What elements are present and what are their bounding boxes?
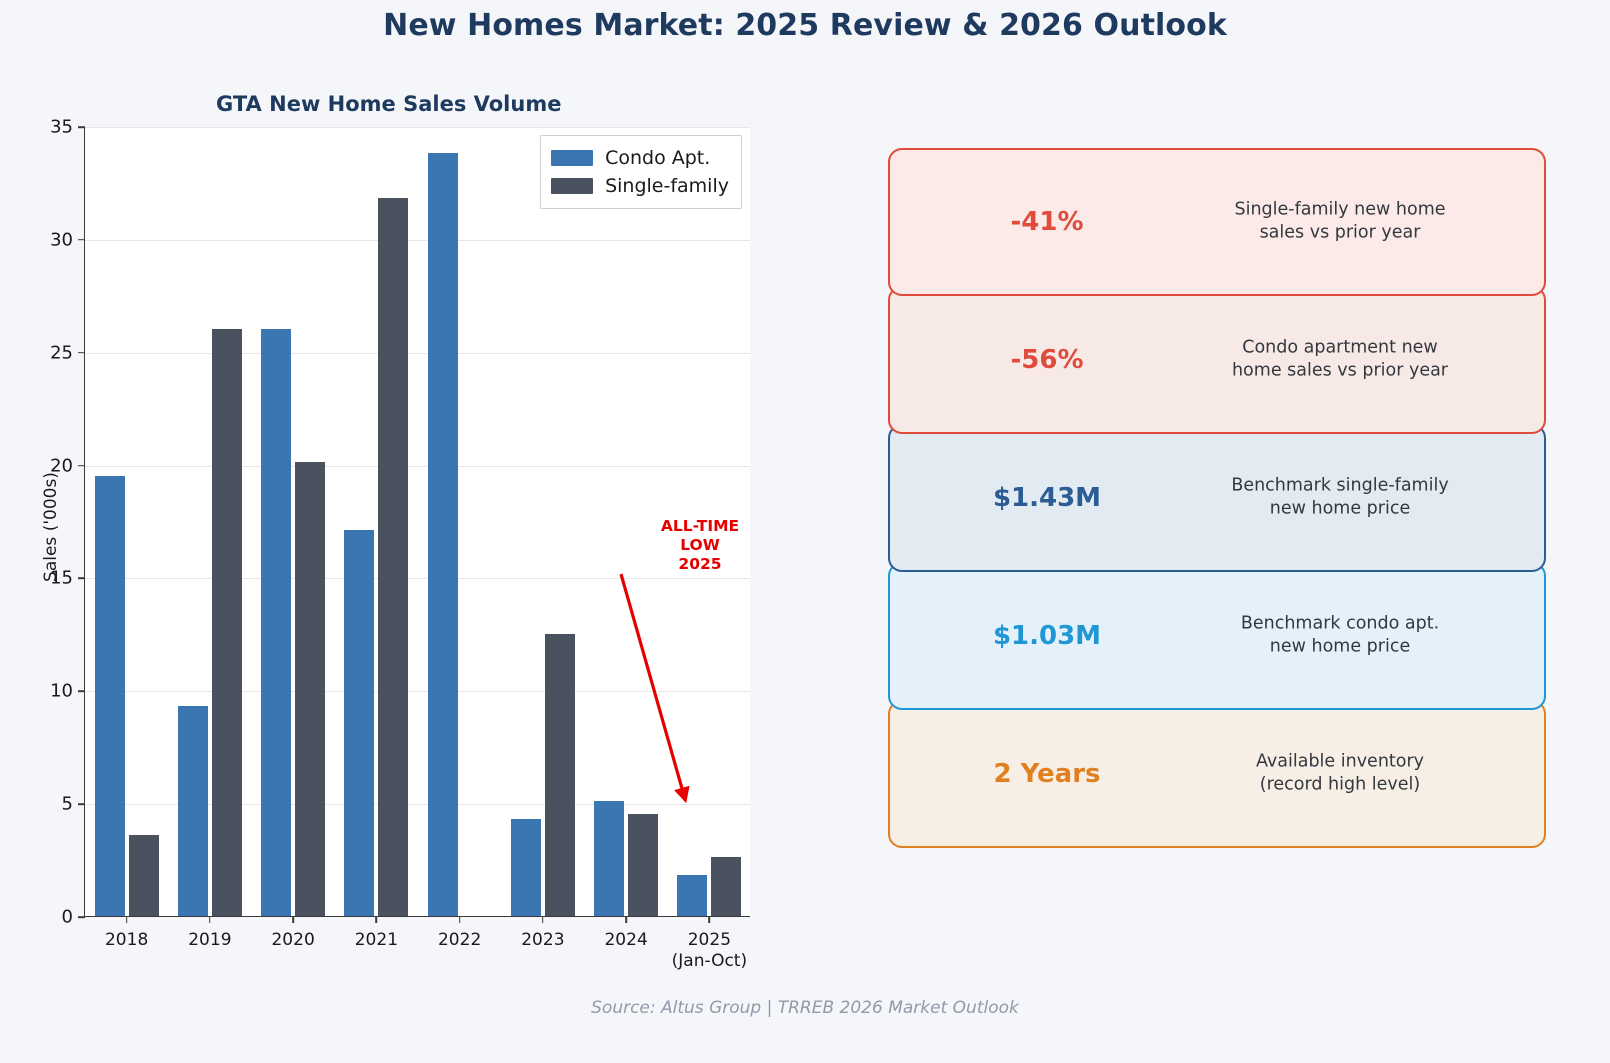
chart-bar [511,819,541,916]
x-tick-mark [209,916,211,923]
key-fact-value: 2 Years [942,759,1152,789]
key-fact-description: Available inventory (record high level) [1162,751,1518,798]
chart-bar [594,801,624,916]
gridline [85,353,750,354]
y-tick-label: 25 [50,342,73,363]
x-tick-label: 2024 [604,930,647,951]
y-tick-mark [78,578,85,580]
legend-label-single-family: Single-family [605,175,729,197]
y-tick-mark [78,352,85,354]
chart-bar [677,875,707,916]
chart-bar [628,814,658,916]
chart-bar [95,476,125,916]
chart-title: GTA New Home Sales Volume [216,92,561,116]
x-tick-mark [292,916,294,923]
key-fact-description: Single-family new home sales vs prior ye… [1162,199,1518,246]
key-fact-description: Benchmark condo apt. new home price [1162,613,1518,660]
y-tick-label: 30 [50,229,73,250]
source-note: Source: Altus Group | TRREB 2026 Market … [0,998,1610,1018]
annotation-line-2: LOW [620,536,780,555]
key-fact-card[interactable]: $1.43MBenchmark single-family new home p… [888,424,1546,572]
key-fact-card[interactable]: -41%Single-family new home sales vs prio… [888,148,1546,296]
chart-bar [344,530,374,916]
gridline [85,127,750,128]
key-fact-card[interactable]: $1.03MBenchmark condo apt. new home pric… [888,562,1546,710]
key-fact-value: $1.03M [942,621,1152,651]
chart-legend[interactable]: Condo Apt. Single-family [540,135,742,209]
y-tick-mark [78,916,85,918]
chart-bar [428,153,458,916]
x-tick-label-year: 2022 [438,930,481,950]
x-tick-label-year: 2021 [355,930,398,950]
y-axis-title: Sales ('000s) [41,472,61,582]
key-fact-value: $1.43M [942,483,1152,513]
gridline [85,691,750,692]
x-tick-label-year: 2020 [271,930,314,950]
x-tick-label: 2018 [105,930,148,951]
y-tick-mark [78,690,85,692]
legend-item-single-family[interactable]: Single-family [551,172,729,200]
x-tick-mark [625,916,627,923]
legend-item-condo[interactable]: Condo Apt. [551,144,729,172]
page-title: New Homes Market: 2025 Review & 2026 Out… [0,8,1610,43]
annotation-line-1: ALL-TIME [620,517,780,536]
x-tick-label-sublabel: (Jan-Oct) [672,951,747,972]
x-tick-mark [126,916,128,923]
y-tick-mark [78,803,85,805]
chart-bar [711,857,741,916]
y-tick-mark [78,126,85,128]
annotation-line-3: 2025 [620,555,780,574]
chart-bar [378,198,408,916]
x-tick-label: 2022 [438,930,481,951]
gridline [85,466,750,467]
y-tick-label: 10 [50,681,73,702]
chart-bar [295,462,325,916]
legend-swatch-single-family [551,178,593,194]
y-tick-label: 0 [62,907,73,928]
x-tick-label: 2019 [188,930,231,951]
x-tick-label: 2021 [355,930,398,951]
key-fact-value: -41% [942,207,1152,237]
x-tick-label: 2020 [271,930,314,951]
y-tick-label: 5 [62,794,73,815]
y-tick-mark [78,465,85,467]
chart-bar [545,634,575,916]
legend-label-condo: Condo Apt. [605,147,710,169]
x-tick-label: 2023 [521,930,564,951]
gridline [85,240,750,241]
key-fact-card[interactable]: -56%Condo apartment new home sales vs pr… [888,286,1546,434]
key-fact-value: -56% [942,345,1152,375]
x-tick-label-year: 2023 [521,930,564,950]
chart-bar [178,706,208,916]
chart-bar [212,329,242,916]
chart-panel: GTA New Home Sales Volume 05101520253035… [0,80,800,980]
x-tick-mark [709,916,711,923]
key-fact-card[interactable]: 2 YearsAvailable inventory (record high … [888,700,1546,848]
x-tick-label-year: 2024 [604,930,647,950]
chart-plot-area: 05101520253035 2018201920202021202220232… [84,127,750,917]
x-tick-mark [376,916,378,923]
x-tick-mark [542,916,544,923]
x-tick-mark [459,916,461,923]
legend-swatch-condo [551,150,593,166]
x-tick-label: 2025(Jan-Oct) [672,930,747,973]
all-time-low-annotation: ALL-TIME LOW 2025 [620,517,780,574]
y-tick-label: 35 [50,117,73,138]
x-tick-label-year: 2018 [105,930,148,950]
key-facts-panel: New Homes: Key Facts -41%Single-family n… [888,148,1546,870]
key-fact-description: Benchmark single-family new home price [1162,475,1518,522]
chart-bar [261,329,291,916]
x-tick-label-year: 2019 [188,930,231,950]
key-fact-description: Condo apartment new home sales vs prior … [1162,337,1518,384]
y-tick-mark [78,239,85,241]
gridline [85,578,750,579]
x-tick-label-year: 2025 [688,930,731,950]
chart-bar [129,835,159,916]
